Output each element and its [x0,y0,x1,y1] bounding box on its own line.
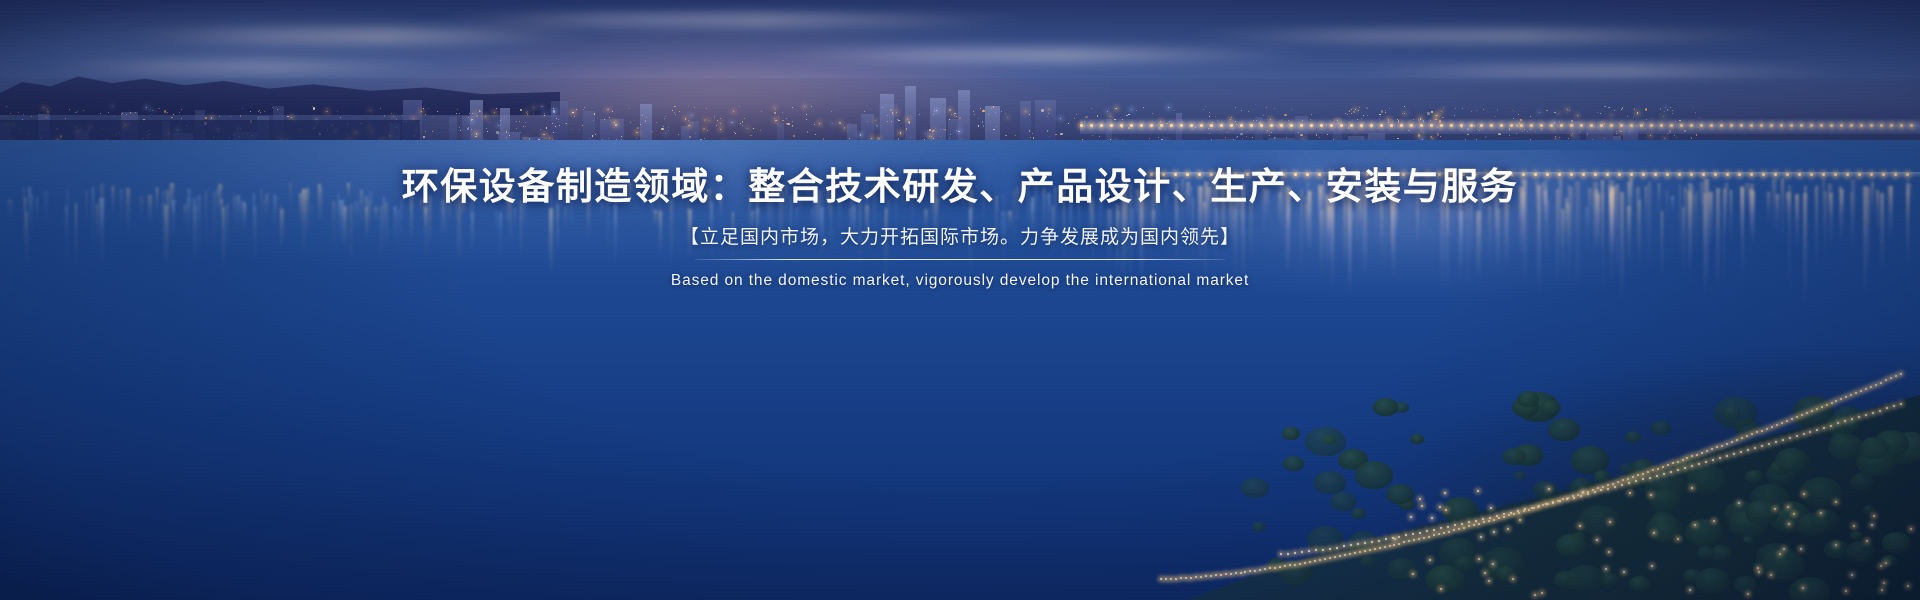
bridge-lamp [1600,124,1603,127]
city-light [1476,110,1477,111]
bridge-lamp [1260,124,1263,127]
city-light [1604,106,1605,107]
city-light [871,138,872,139]
city-light [882,107,883,108]
bridge-lamp [1550,124,1553,127]
city-light [437,111,438,112]
city-light [69,109,70,110]
city-light [980,108,981,109]
city-light [674,106,675,107]
bridge-lamp [1282,173,1285,176]
bridge-lamp [1774,173,1777,176]
bridge-lamp [1200,124,1203,127]
bridge-lamp [1810,173,1813,176]
city-light [668,130,669,131]
bridge-lamp [1790,124,1793,127]
bridge-lamp [1410,124,1413,127]
city-light [475,136,476,137]
bridge-lamp [1714,173,1717,176]
city-light [1237,136,1238,137]
bridge-lamp [1710,124,1713,127]
city-light [264,111,265,112]
bridge-lamp [1510,173,1513,176]
bridge-lamp [1100,124,1103,127]
bridge-lamp [1342,173,1345,176]
bridge-lamp [1882,173,1885,176]
city-light [1284,114,1286,116]
bridge-lamp [1300,124,1303,127]
city-light [468,117,469,118]
bridge-lamp [1240,124,1243,127]
city-light [695,133,696,134]
bridge-lamp [1700,124,1703,127]
city-light [679,111,680,112]
city-light [572,112,573,113]
city-light [1225,137,1226,138]
bridge-lamp [1230,124,1233,127]
city-light [689,136,691,138]
bridge-lamp [1702,173,1705,176]
city-light [786,118,787,119]
city-light [1691,137,1692,138]
bridge-lamp [1820,124,1823,127]
city-light [589,138,590,139]
bridge-lamp [1834,173,1837,176]
city-light [1001,111,1002,112]
bridge-lamp [1366,173,1369,176]
near-bridge-lights [1150,173,1920,177]
city-light [423,108,424,109]
bridge-lamp [1190,124,1193,127]
city-light [661,128,663,130]
bridge-lamp [1534,173,1537,176]
city-light [181,118,182,119]
city-light [954,115,955,116]
bridge-lamp [1090,124,1093,127]
city-light [934,130,935,131]
city-light [983,125,984,126]
bridge-lamp [1318,173,1321,176]
city-light [1266,107,1267,108]
bridge-lamp [1594,173,1597,176]
city-light [1418,134,1420,136]
bridge-lamp [1666,173,1669,176]
bridge-lamp [1858,173,1861,176]
city-light [1005,135,1006,136]
bridge-lamp [1378,173,1381,176]
bridge-lamp [1720,124,1723,127]
city-light [891,121,892,122]
city-light [384,115,385,116]
city-light [1041,109,1043,111]
bridge-lamp [1798,173,1801,176]
bridge-lamp [1350,124,1353,127]
city-light [951,114,952,115]
bridge-lamp [1520,124,1523,127]
bridge-lamp [1390,124,1393,127]
city-light [469,113,470,114]
bridge-lamp [1590,124,1593,127]
city-light [1048,109,1049,110]
bridge-lamp [1546,173,1549,176]
bridge-lamp [1570,124,1573,127]
city-light [645,120,646,121]
city-light [637,127,639,129]
hero-banner: 环保设备制造领域：整合技术研发、产品设计、生产、安装与服务 【立足国内市场，大力… [0,0,1920,600]
city-light [592,135,593,136]
bridge-lamp [1498,173,1501,176]
city-light [83,110,84,111]
city-light [973,111,974,112]
bridge-lamp [1650,124,1653,127]
city-light [775,120,776,121]
city-light [1645,108,1647,110]
city-light [1380,116,1381,117]
city-light [1518,114,1519,115]
city-light [576,109,577,110]
city-light [1660,108,1661,109]
city-light [171,117,172,118]
bridge-lamp [1880,124,1883,127]
city-light [1115,108,1116,109]
bridge-lamp [1770,124,1773,127]
bridge-lamp [1246,173,1249,176]
bridge-lamp [1670,124,1673,127]
bridge-lamp [1780,124,1783,127]
bridge-lamp [1822,173,1825,176]
bridge-lamp [1306,173,1309,176]
city-light [549,138,550,139]
bridge-lamp [1280,124,1283,127]
bridge-lamp [1470,124,1473,127]
city-light [100,113,101,114]
bridge-lamp [1540,124,1543,127]
bridge-lamp [1480,124,1483,127]
bridge-lamp [1760,124,1763,127]
city-light [130,112,131,113]
city-light [516,128,517,129]
cloud-streak-3 [760,48,1320,62]
city-light [714,116,715,117]
bridge-lamp [1582,173,1585,176]
city-light [933,138,934,139]
peninsula-landmass [1140,350,1920,600]
city-light [121,114,122,115]
city-light [844,127,845,128]
city-light [1497,109,1498,110]
bridge-lamp [1270,173,1273,176]
city-light [47,109,48,110]
city-light [1033,137,1034,138]
bridge-lamp [1522,173,1525,176]
bridge-lamp [1750,173,1753,176]
right-peninsula [1090,310,1920,600]
bridge-lamp [1830,124,1833,127]
city-light [594,113,595,114]
city-light [487,131,488,132]
city-light [982,121,983,122]
city-light [337,111,338,112]
city-light [1242,138,1243,139]
bridge-lamp [1558,173,1561,176]
bridge-lamp [1426,173,1429,176]
bridge-lamp [1840,124,1843,127]
bridge-lamp [1620,124,1623,127]
city-light [993,129,994,130]
city-light [1015,135,1016,136]
city-light [1555,138,1556,139]
city-light [1363,115,1364,116]
bridge-lamp [1910,124,1913,127]
city-light [1637,112,1638,113]
city-light [1597,112,1598,113]
city-light [1664,111,1665,112]
bridge-lamp [1618,173,1621,176]
city-light [1430,136,1431,137]
city-light [47,111,49,113]
bridge-lamp [1738,173,1741,176]
city-light [1055,134,1056,135]
bridge-lamp [1810,124,1813,127]
bridge-lamp [1400,124,1403,127]
city-light [1667,109,1668,110]
city-light [166,113,167,114]
bridge-lamp [1654,173,1657,176]
city-light [242,108,243,109]
bridge-lamp [1440,124,1443,127]
city-light [506,131,507,132]
city-light [433,116,434,117]
bridge-lamp [1330,173,1333,176]
bridge-lamp [1402,173,1405,176]
city-light [1367,115,1368,116]
city-light [1047,130,1048,131]
bridge-lamp [1570,173,1573,176]
city-light [807,131,808,132]
city-light [604,119,605,120]
city-light [1569,110,1570,111]
bridge-lamp [1294,173,1297,176]
city-light [1209,116,1210,117]
bridge-lamp [1310,124,1313,127]
city-light [1158,137,1159,138]
city-light [1248,111,1249,112]
city-light [205,117,207,119]
city-light [875,120,876,121]
city-light [525,122,526,123]
bridge-lamp [1380,124,1383,127]
city-light [1650,135,1651,136]
city-light [1622,107,1623,108]
city-light [1316,134,1317,135]
city-light [1319,137,1320,138]
bridge-lamp [1370,124,1373,127]
bridge-lamp [1860,124,1863,127]
city-light [1443,107,1444,108]
bridge-lamp [1680,124,1683,127]
city-light [1029,130,1030,131]
city-light [1427,112,1429,114]
bridge-lamp [1460,124,1463,127]
city-light [479,110,480,111]
city-light [1611,115,1612,116]
city-light [925,133,926,134]
bridge-lamp [1786,173,1789,176]
bridge-lamp [1630,124,1633,127]
bridge-lamp [1290,124,1293,127]
city-light [476,133,477,134]
city-light [471,129,472,130]
city-light [685,118,686,119]
city-light [703,128,705,130]
bridge-lamp [1630,173,1633,176]
bridge-lamp [1750,124,1753,127]
bridge-lamp [1762,173,1765,176]
bridge-lamp [1220,124,1223,127]
city-light [898,120,899,121]
bridge-lamp [1660,124,1663,127]
bridge-lamp [1234,173,1237,176]
bridge-lamp [1162,173,1165,176]
bridge-lamp [1870,124,1873,127]
city-light [1696,134,1697,135]
city-light [1215,116,1216,117]
bridge-lamp [1270,124,1273,127]
bridge-lamp [1360,124,1363,127]
city-light [1355,109,1356,110]
city-light [558,119,559,120]
bridge-lamp [1606,173,1609,176]
city-light [1203,109,1204,110]
city-light [1252,137,1253,138]
city-light [887,121,888,122]
bridge-lamp [1900,124,1903,127]
city-light [150,109,151,110]
city-light [287,116,288,117]
bridge-lamp [1198,173,1201,176]
city-light [945,129,946,130]
bridge-lamp [1530,124,1533,127]
city-light [475,113,476,114]
bridge-lamp [1890,124,1893,127]
cloud-streak-1 [120,28,600,44]
bridge-lamp [1870,173,1873,176]
bridge-lamp [1462,173,1465,176]
city-light [543,134,544,135]
city-light [1431,111,1433,113]
bridge-lamp [1438,173,1441,176]
city-light [706,108,707,109]
city-light [876,125,878,127]
bridge-lamp [1320,124,1323,127]
city-light [496,131,498,133]
city-light [1546,110,1547,111]
city-light [717,120,718,121]
bridge-lamp [1450,124,1453,127]
bridge-lamp [1170,124,1173,127]
city-light [707,130,708,131]
far-bridge-lights [1080,124,1920,129]
city-light [421,111,422,112]
bridge-lamp [1906,173,1909,176]
bridge-lamp [1330,124,1333,127]
city-light [459,113,460,114]
bridge-lamp [1120,124,1123,127]
city-light [608,138,609,139]
city-light [1432,138,1433,139]
bridge-lamp [1560,124,1563,127]
city-light [692,122,693,123]
bridge-lamp [1800,124,1803,127]
bridge-lamp [1850,124,1853,127]
cloud-streak-2 [420,14,1040,26]
city-light [1300,134,1302,136]
city-light [1152,113,1153,114]
bridge-lamp [1500,124,1503,127]
city-light [996,126,997,127]
city-light [1621,109,1622,110]
city-light [900,132,901,133]
bridge-lamp [1726,173,1729,176]
bridge-lamp [1150,124,1153,127]
bridge-lamp [1110,124,1113,127]
city-light [747,128,748,129]
bridge-lamp [1222,173,1225,176]
city-light [774,112,776,114]
bridge-lamp [1080,124,1083,127]
bridge-lamp [1210,124,1213,127]
bridge-lamp [1486,173,1489,176]
city-light [954,113,955,114]
bridge-lamp [1258,173,1261,176]
city-light [135,112,136,113]
bridge-lamp [1130,124,1133,127]
bridge-lamp [1180,124,1183,127]
city-light [1128,114,1129,115]
city-light [993,106,994,107]
city-light [1397,138,1398,139]
city-light [1539,112,1540,113]
bridge-lamp [1510,124,1513,127]
cloud-streak-6 [1340,66,1860,76]
bridge-lamp [1174,173,1177,176]
city-light [689,125,690,126]
city-light [540,129,541,130]
bridge-lamp [1210,173,1213,176]
bridge-lamp [1690,173,1693,176]
city-light [685,119,686,120]
city-light [704,138,705,139]
bridge-lamp [1450,173,1453,176]
city-light [1440,136,1441,137]
city-light [793,135,795,137]
bridge-lamp [1894,173,1897,176]
bridge-lamp [1490,124,1493,127]
bridge-lamp [1250,124,1253,127]
bridge-lamp [1354,173,1357,176]
bridge-lamp [1390,173,1393,176]
city-light [1349,110,1350,111]
city-light [860,134,861,135]
bridge-lamp [1846,173,1849,176]
bridge-lamp [1186,173,1189,176]
city-light [949,109,950,110]
bridge-lamp [1474,173,1477,176]
city-light [929,129,931,131]
bridge-lamp [1430,124,1433,127]
city-light [714,118,715,119]
city-light [1005,113,1006,114]
